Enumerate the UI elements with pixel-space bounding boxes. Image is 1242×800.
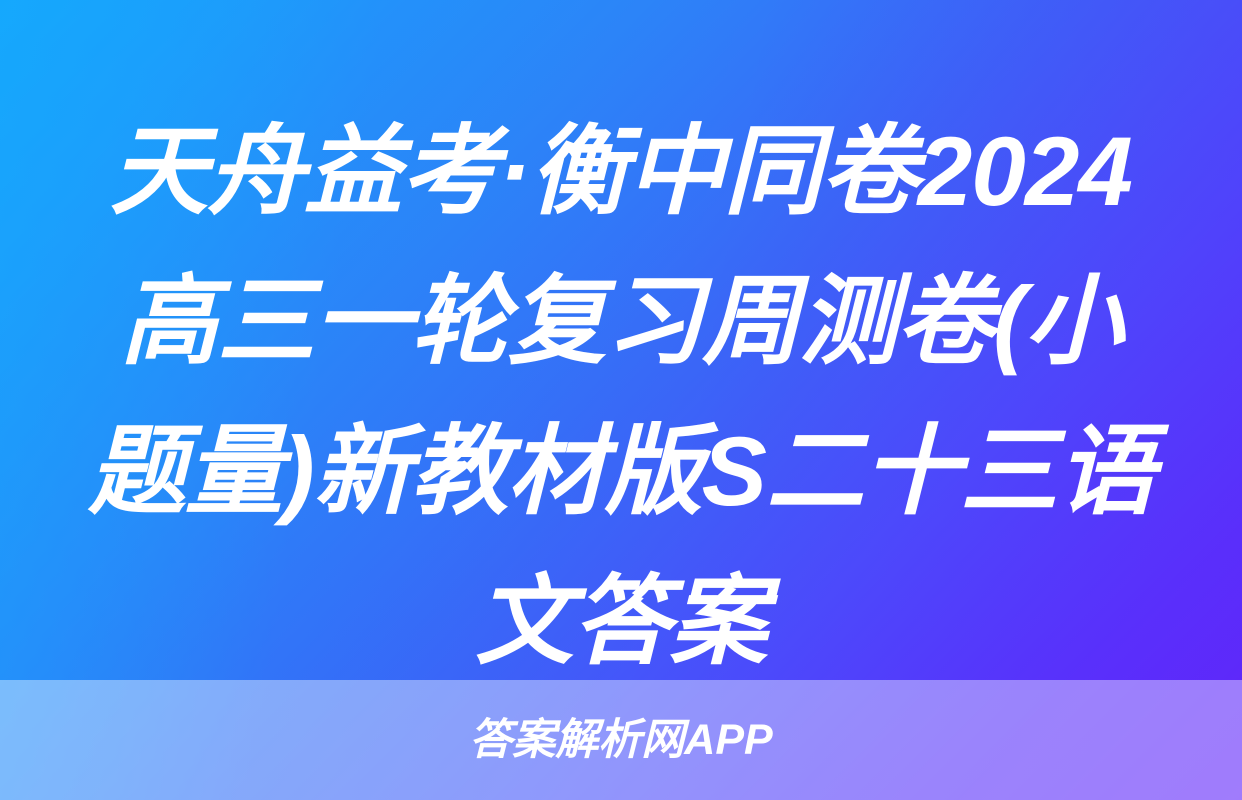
footer-brand-label: 答案解析网APP	[469, 719, 772, 762]
page-title: 天舟益考·衡中同卷2024 高三一轮复习周测卷(小 题量)新教材版S二十三语 文…	[0, 96, 1242, 696]
footer-brand-bar: 答案解析网APP	[0, 680, 1242, 800]
poster-canvas: 天舟益考·衡中同卷2024 高三一轮复习周测卷(小 题量)新教材版S二十三语 文…	[0, 0, 1242, 800]
